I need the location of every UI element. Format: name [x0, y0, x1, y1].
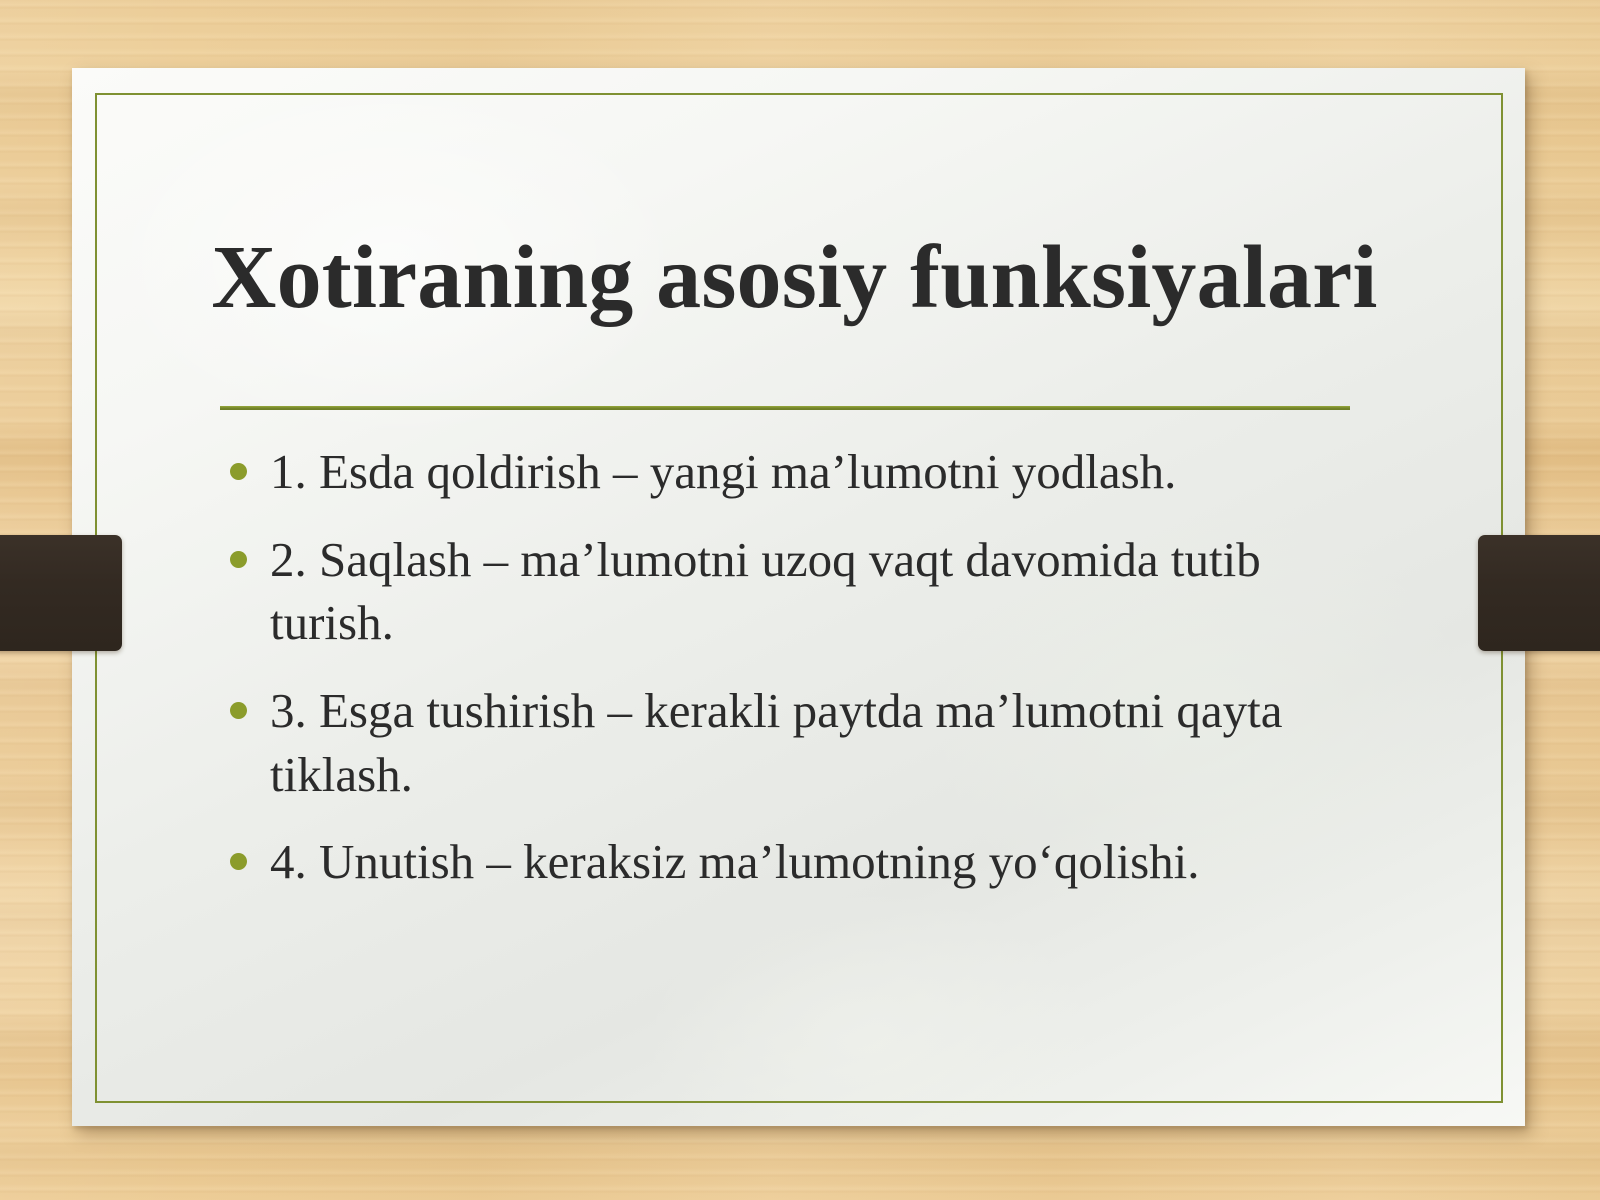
list-item-label: 1. Esda qoldirish – yangi ma’lumotni yod…: [270, 444, 1176, 499]
list-item: 4. Unutish – keraksiz ma’lumotning yo‘qo…: [212, 830, 1382, 894]
decorative-tab-right: [1478, 535, 1600, 651]
list-item: 3. Esga tushirish – kerakli paytda ma’lu…: [212, 679, 1382, 806]
slide-stage: Xotiraning asosiy funksiyalari 1. Esda q…: [0, 0, 1600, 1200]
bullet-list: 1. Esda qoldirish – yangi ma’lumotni yod…: [212, 440, 1382, 918]
list-item: 2. Saqlash – ma’lumotni uzoq vaqt davomi…: [212, 528, 1382, 655]
slide-content: Xotiraning asosiy funksiyalari 1. Esda q…: [72, 68, 1525, 1126]
list-item-label: 2. Saqlash – ma’lumotni uzoq vaqt davomi…: [270, 532, 1261, 651]
decorative-tab-left: [0, 535, 122, 651]
slide-card: Xotiraning asosiy funksiyalari 1. Esda q…: [72, 68, 1525, 1126]
list-item: 1. Esda qoldirish – yangi ma’lumotni yod…: [212, 440, 1382, 504]
bullet-dot-icon: [230, 551, 247, 568]
bullet-dot-icon: [230, 702, 247, 719]
page-title: Xotiraning asosiy funksiyalari: [182, 228, 1407, 329]
bullet-dot-icon: [230, 463, 247, 480]
list-item-label: 4. Unutish – keraksiz ma’lumotning yo‘qo…: [270, 834, 1200, 889]
bullet-dot-icon: [230, 853, 247, 870]
list-item-label: 3. Esga tushirish – kerakli paytda ma’lu…: [270, 683, 1282, 802]
title-divider: [220, 406, 1350, 410]
